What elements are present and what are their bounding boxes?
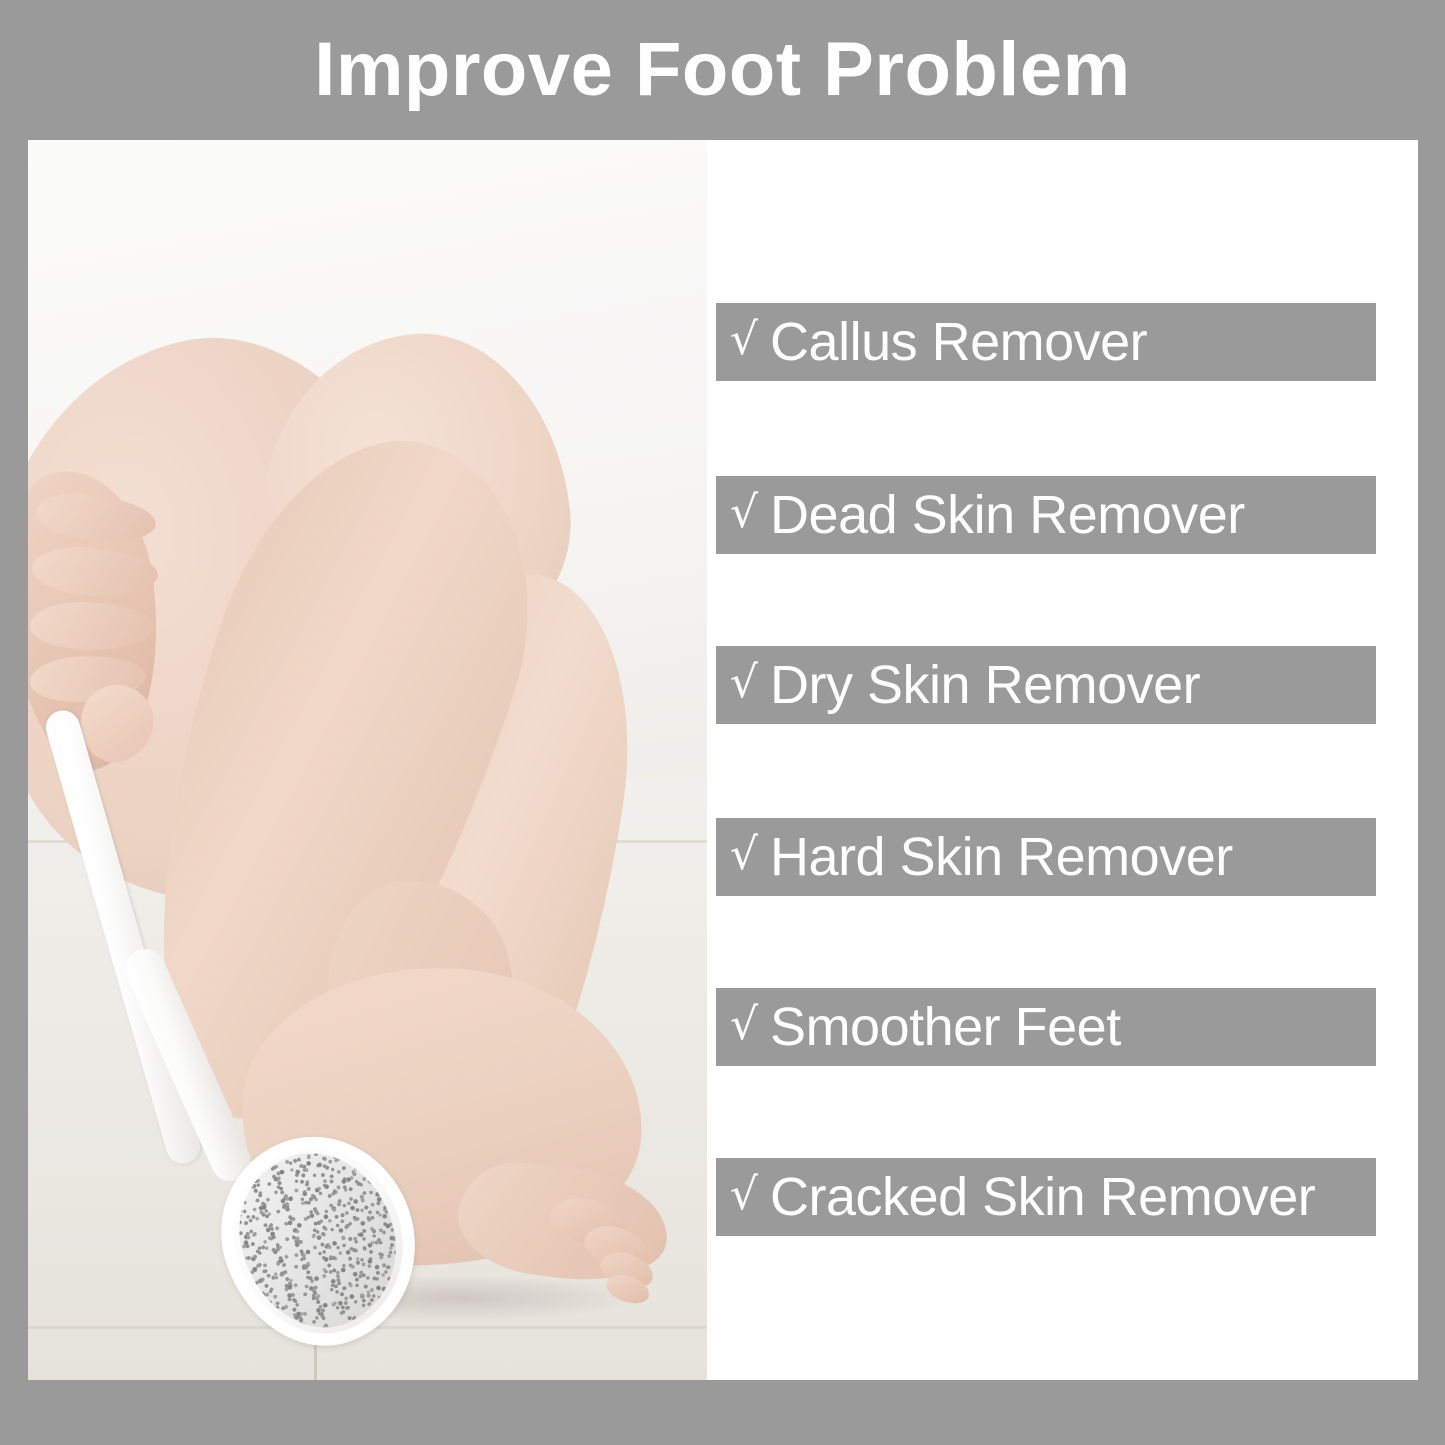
feature-item: √ Hard Skin Remover [716, 818, 1376, 896]
feature-label: Hard Skin Remover [770, 830, 1233, 884]
check-icon: √ [730, 661, 758, 705]
content-card: √ Callus Remover √ Dead Skin Remover √ D… [28, 140, 1418, 1380]
feature-item: √ Callus Remover [716, 303, 1376, 381]
feature-item: √ Cracked Skin Remover [716, 1158, 1376, 1236]
finger-shape [30, 602, 154, 650]
feature-item: √ Smoother Feet [716, 988, 1376, 1066]
feature-item: √ Dry Skin Remover [716, 646, 1376, 724]
feature-list: √ Callus Remover √ Dead Skin Remover √ D… [716, 140, 1418, 1380]
page-title: Improve Foot Problem [314, 32, 1131, 108]
page-header: Improve Foot Problem [0, 0, 1445, 140]
check-icon: √ [730, 833, 758, 877]
feature-label: Dead Skin Remover [770, 488, 1245, 542]
product-infographic: Improve Foot Problem [0, 0, 1445, 1445]
feature-label: Callus Remover [770, 315, 1147, 369]
feature-label: Dry Skin Remover [770, 658, 1200, 712]
feature-label: Cracked Skin Remover [770, 1170, 1315, 1224]
feature-item: √ Dead Skin Remover [716, 476, 1376, 554]
product-photo [28, 140, 707, 1380]
check-icon: √ [730, 318, 758, 362]
check-icon: √ [730, 1003, 758, 1047]
check-icon: √ [730, 1173, 758, 1217]
check-icon: √ [730, 491, 758, 535]
feature-label: Smoother Feet [770, 1000, 1121, 1054]
features-panel: √ Callus Remover √ Dead Skin Remover √ D… [707, 140, 1418, 1380]
